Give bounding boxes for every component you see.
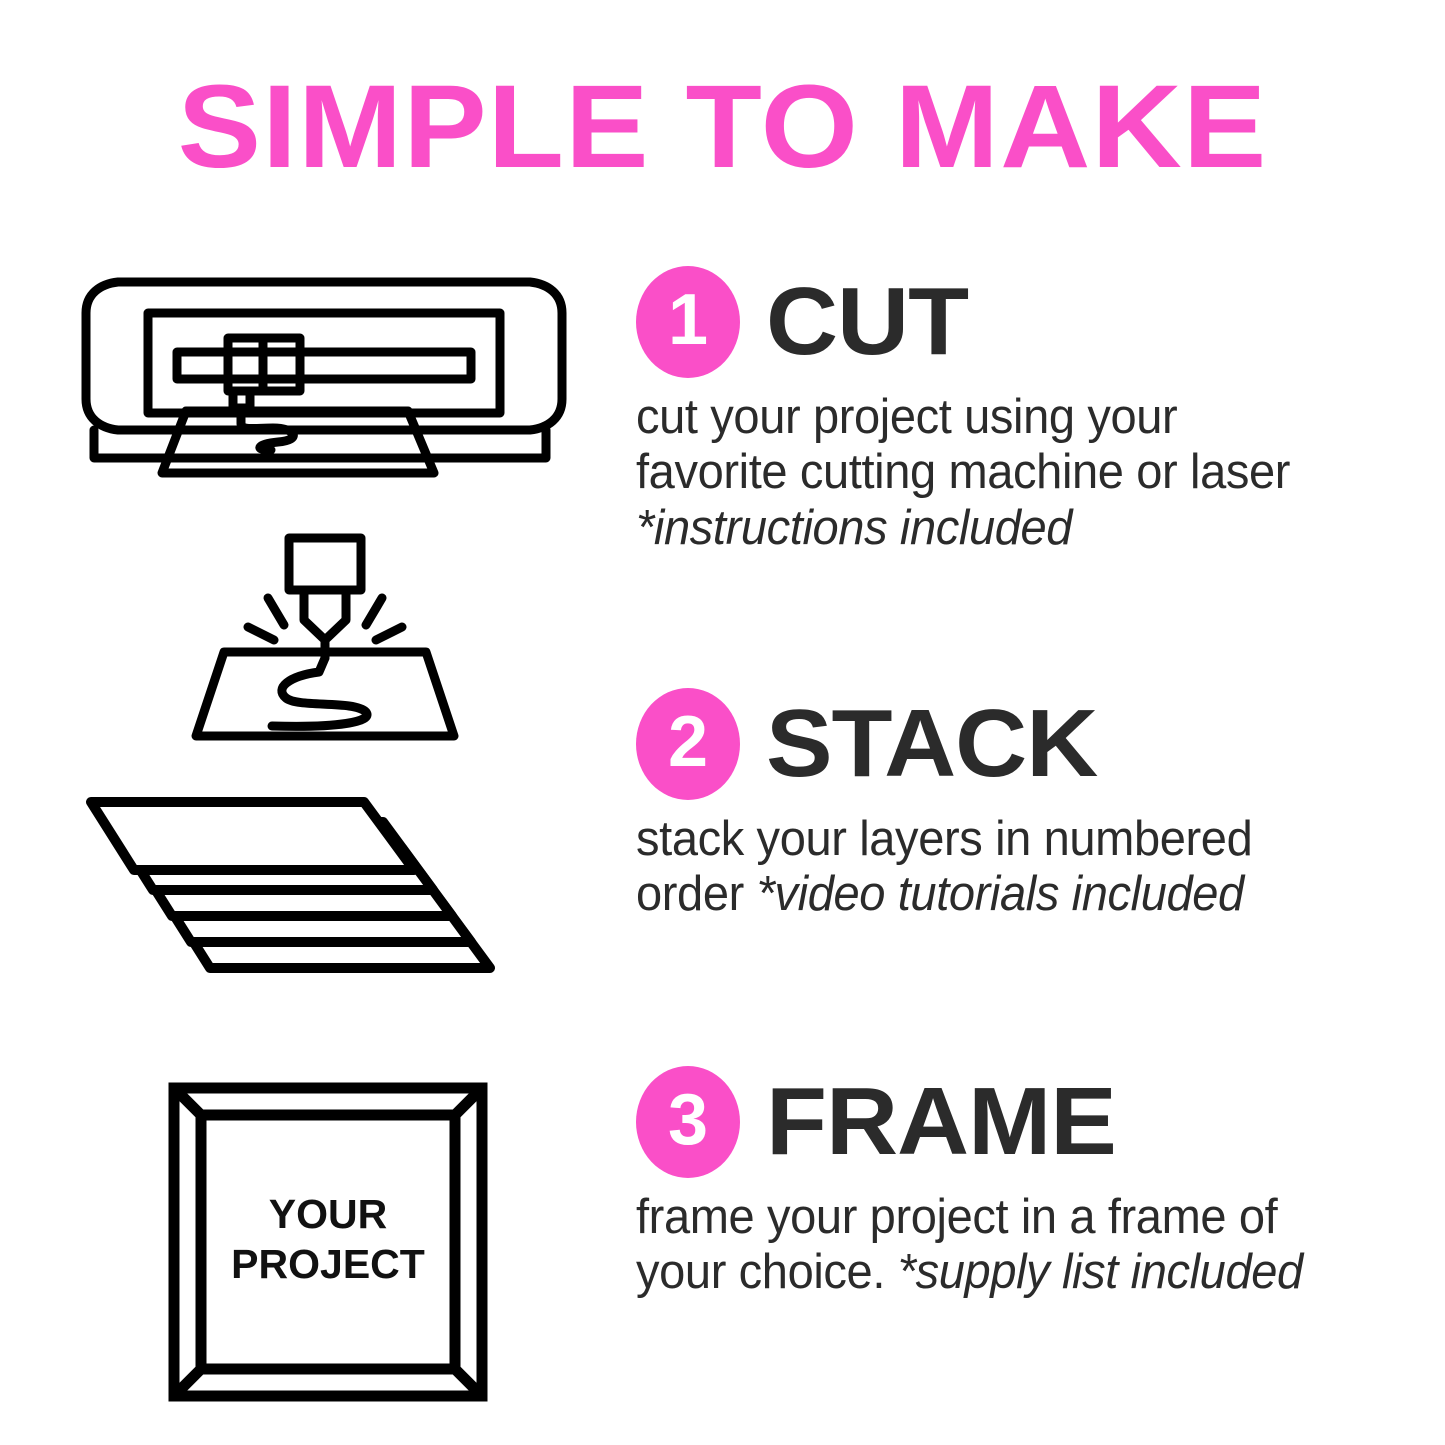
picture-frame-icon: YOUR PROJECT (168, 1082, 488, 1402)
step-2-body-line-2-prefix: order (636, 867, 757, 921)
step-3-text: 3 FRAME frame your project in a frame of… (636, 1068, 1416, 1301)
step-2-body-line-1: stack your layers in numbered (636, 812, 1385, 867)
step-3-body-line-1: frame your project in a frame of (636, 1190, 1385, 1245)
frame-label-line-1: YOUR (269, 1191, 387, 1237)
step-1-number: 1 (636, 266, 740, 378)
step-3-body-line-2-prefix: your choice. (636, 1245, 898, 1299)
step-1-icons (78, 268, 570, 745)
step-1-body: cut your project using your favorite cut… (636, 390, 1385, 556)
frame-label-line-2: PROJECT (231, 1241, 425, 1287)
step-3-number-badge: 3 (636, 1066, 740, 1178)
step-2-number: 2 (636, 688, 740, 800)
step-3-body-note: *supply list included (898, 1245, 1303, 1299)
stacked-layers-icon (118, 795, 528, 975)
step-1-number-badge: 1 (636, 266, 740, 378)
step-1-body-line-1: cut your project using your (636, 390, 1385, 445)
step-3-body: frame your project in a frame of your ch… (636, 1190, 1385, 1301)
laser-cutter-icon (186, 530, 570, 745)
step-2-number-badge: 2 (636, 688, 740, 800)
page-title: SIMPLE TO MAKE (0, 68, 1445, 186)
step-1-title: CUT (766, 274, 968, 370)
step-2-body-note: *video tutorials included (757, 867, 1244, 921)
step-1-text: 1 CUT cut your project using your favori… (636, 268, 1416, 556)
infographic-page: SIMPLE TO MAKE (0, 0, 1445, 1445)
step-1-heading: 1 CUT (636, 268, 1416, 376)
cutting-machine-icon (78, 268, 570, 490)
step-2-body: stack your layers in numbered order *vid… (636, 812, 1385, 923)
step-2-heading: 2 STACK (636, 690, 1416, 798)
step-2-title: STACK (766, 696, 1097, 792)
step-3-title: FRAME (766, 1074, 1116, 1170)
step-3-number: 3 (636, 1066, 740, 1178)
step-3-heading: 3 FRAME (636, 1068, 1416, 1176)
step-2-icons (118, 795, 528, 975)
step-1-body-note: *instructions included (636, 501, 1385, 556)
step-2-text: 2 STACK stack your layers in numbered or… (636, 690, 1416, 923)
step-3-icons: YOUR PROJECT (168, 1082, 488, 1402)
step-1-body-line-2: favorite cutting machine or laser (636, 445, 1385, 500)
